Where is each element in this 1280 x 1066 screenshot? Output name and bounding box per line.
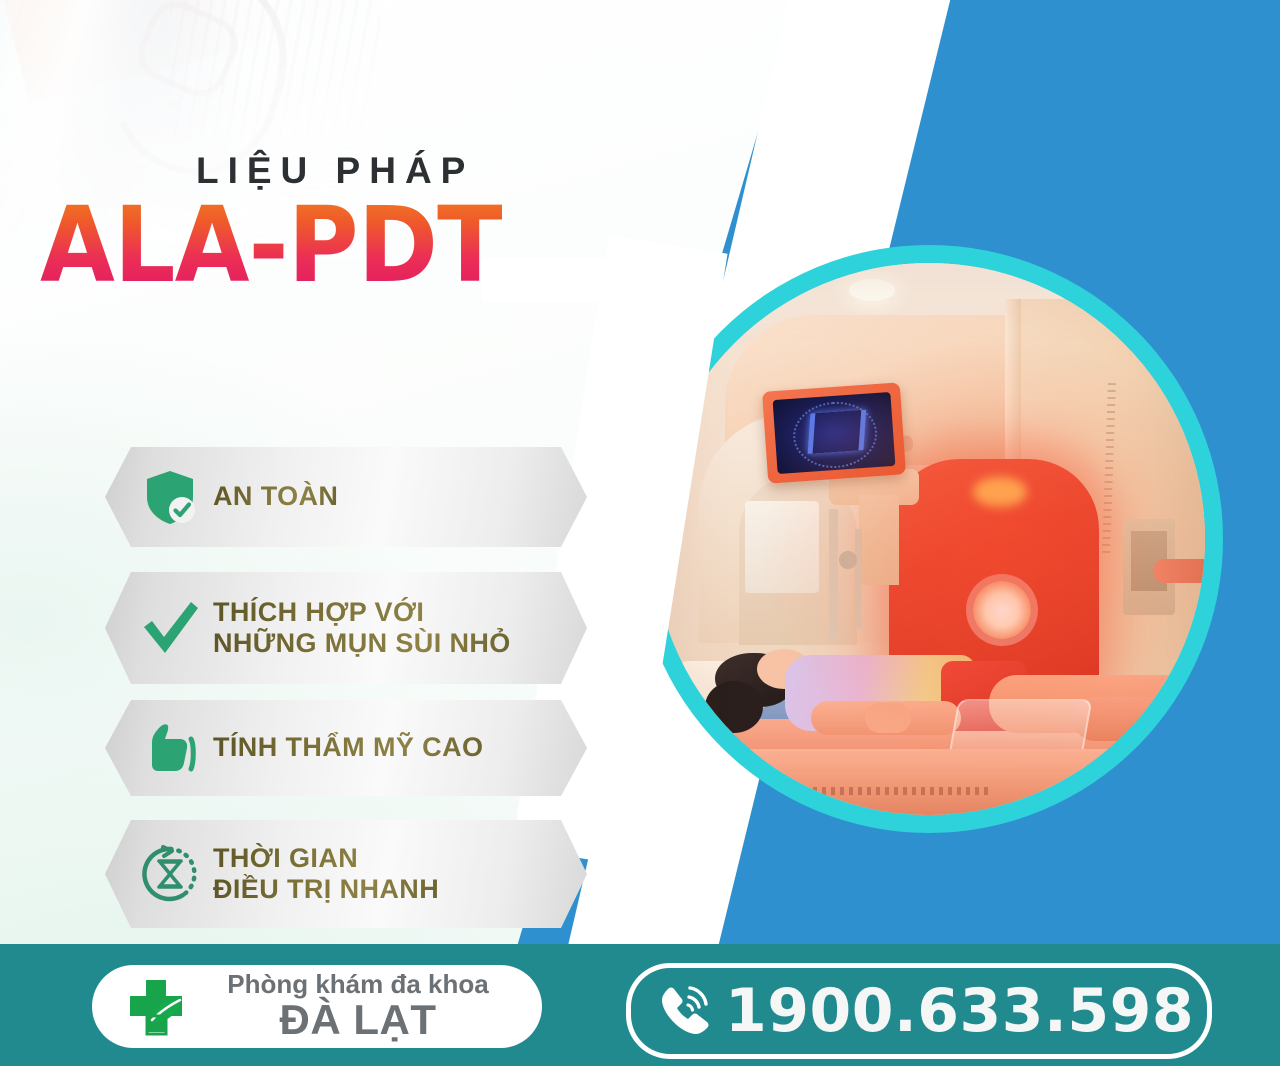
photo-circle-image [653,263,1205,815]
feature-badge-label: TÍNH THẨM MỸ CAO [213,732,483,763]
feature-badge-thoi-gian[interactable]: THỜI GIAN ĐIỀU TRỊ NHANH [105,820,587,928]
shield-check-icon [127,468,213,526]
feature-badge-label: AN TOÀN [213,481,338,512]
title-white-patch [482,258,635,302]
feature-badge-an-toan[interactable]: AN TOÀN [105,447,587,547]
phone-cta-button[interactable]: 1900.633.598 [626,963,1212,1059]
phone-call-icon [645,980,725,1042]
clinic-name: ĐÀ LẠT [280,999,437,1042]
check-mark-icon [127,599,213,657]
page-title: ALA-PDT [40,193,502,297]
clinic-text-group: Phòng khám đa khoa ĐÀ LẠT [200,971,516,1041]
scene-vignette [653,263,1205,815]
clinic-subtitle: Phòng khám đa khoa [227,971,489,998]
poster-root: LIỆU PHÁP ALA-PDT AN TOÀN THÍCH HỢP [0,0,1280,1066]
clock-hourglass-icon [127,843,213,905]
feature-badge-label: THỜI GIAN ĐIỀU TRỊ NHANH [213,843,439,906]
feature-badge-label: THÍCH HỢP VỚI NHỮNG MỤN SÙI NHỎ [213,597,511,660]
phone-number: 1900.633.598 [725,976,1194,1046]
feature-badge-tham-my[interactable]: TÍNH THẨM MỸ CAO [105,700,587,796]
thumbs-up-icon [127,720,213,776]
medical-cross-leaf-icon [114,972,200,1042]
feature-badge-thich-hop[interactable]: THÍCH HỢP VỚI NHỮNG MỤN SÙI NHỎ [105,572,587,684]
clinic-badge[interactable]: Phòng khám đa khoa ĐÀ LẠT [92,965,542,1048]
treatment-photo [635,245,1223,833]
